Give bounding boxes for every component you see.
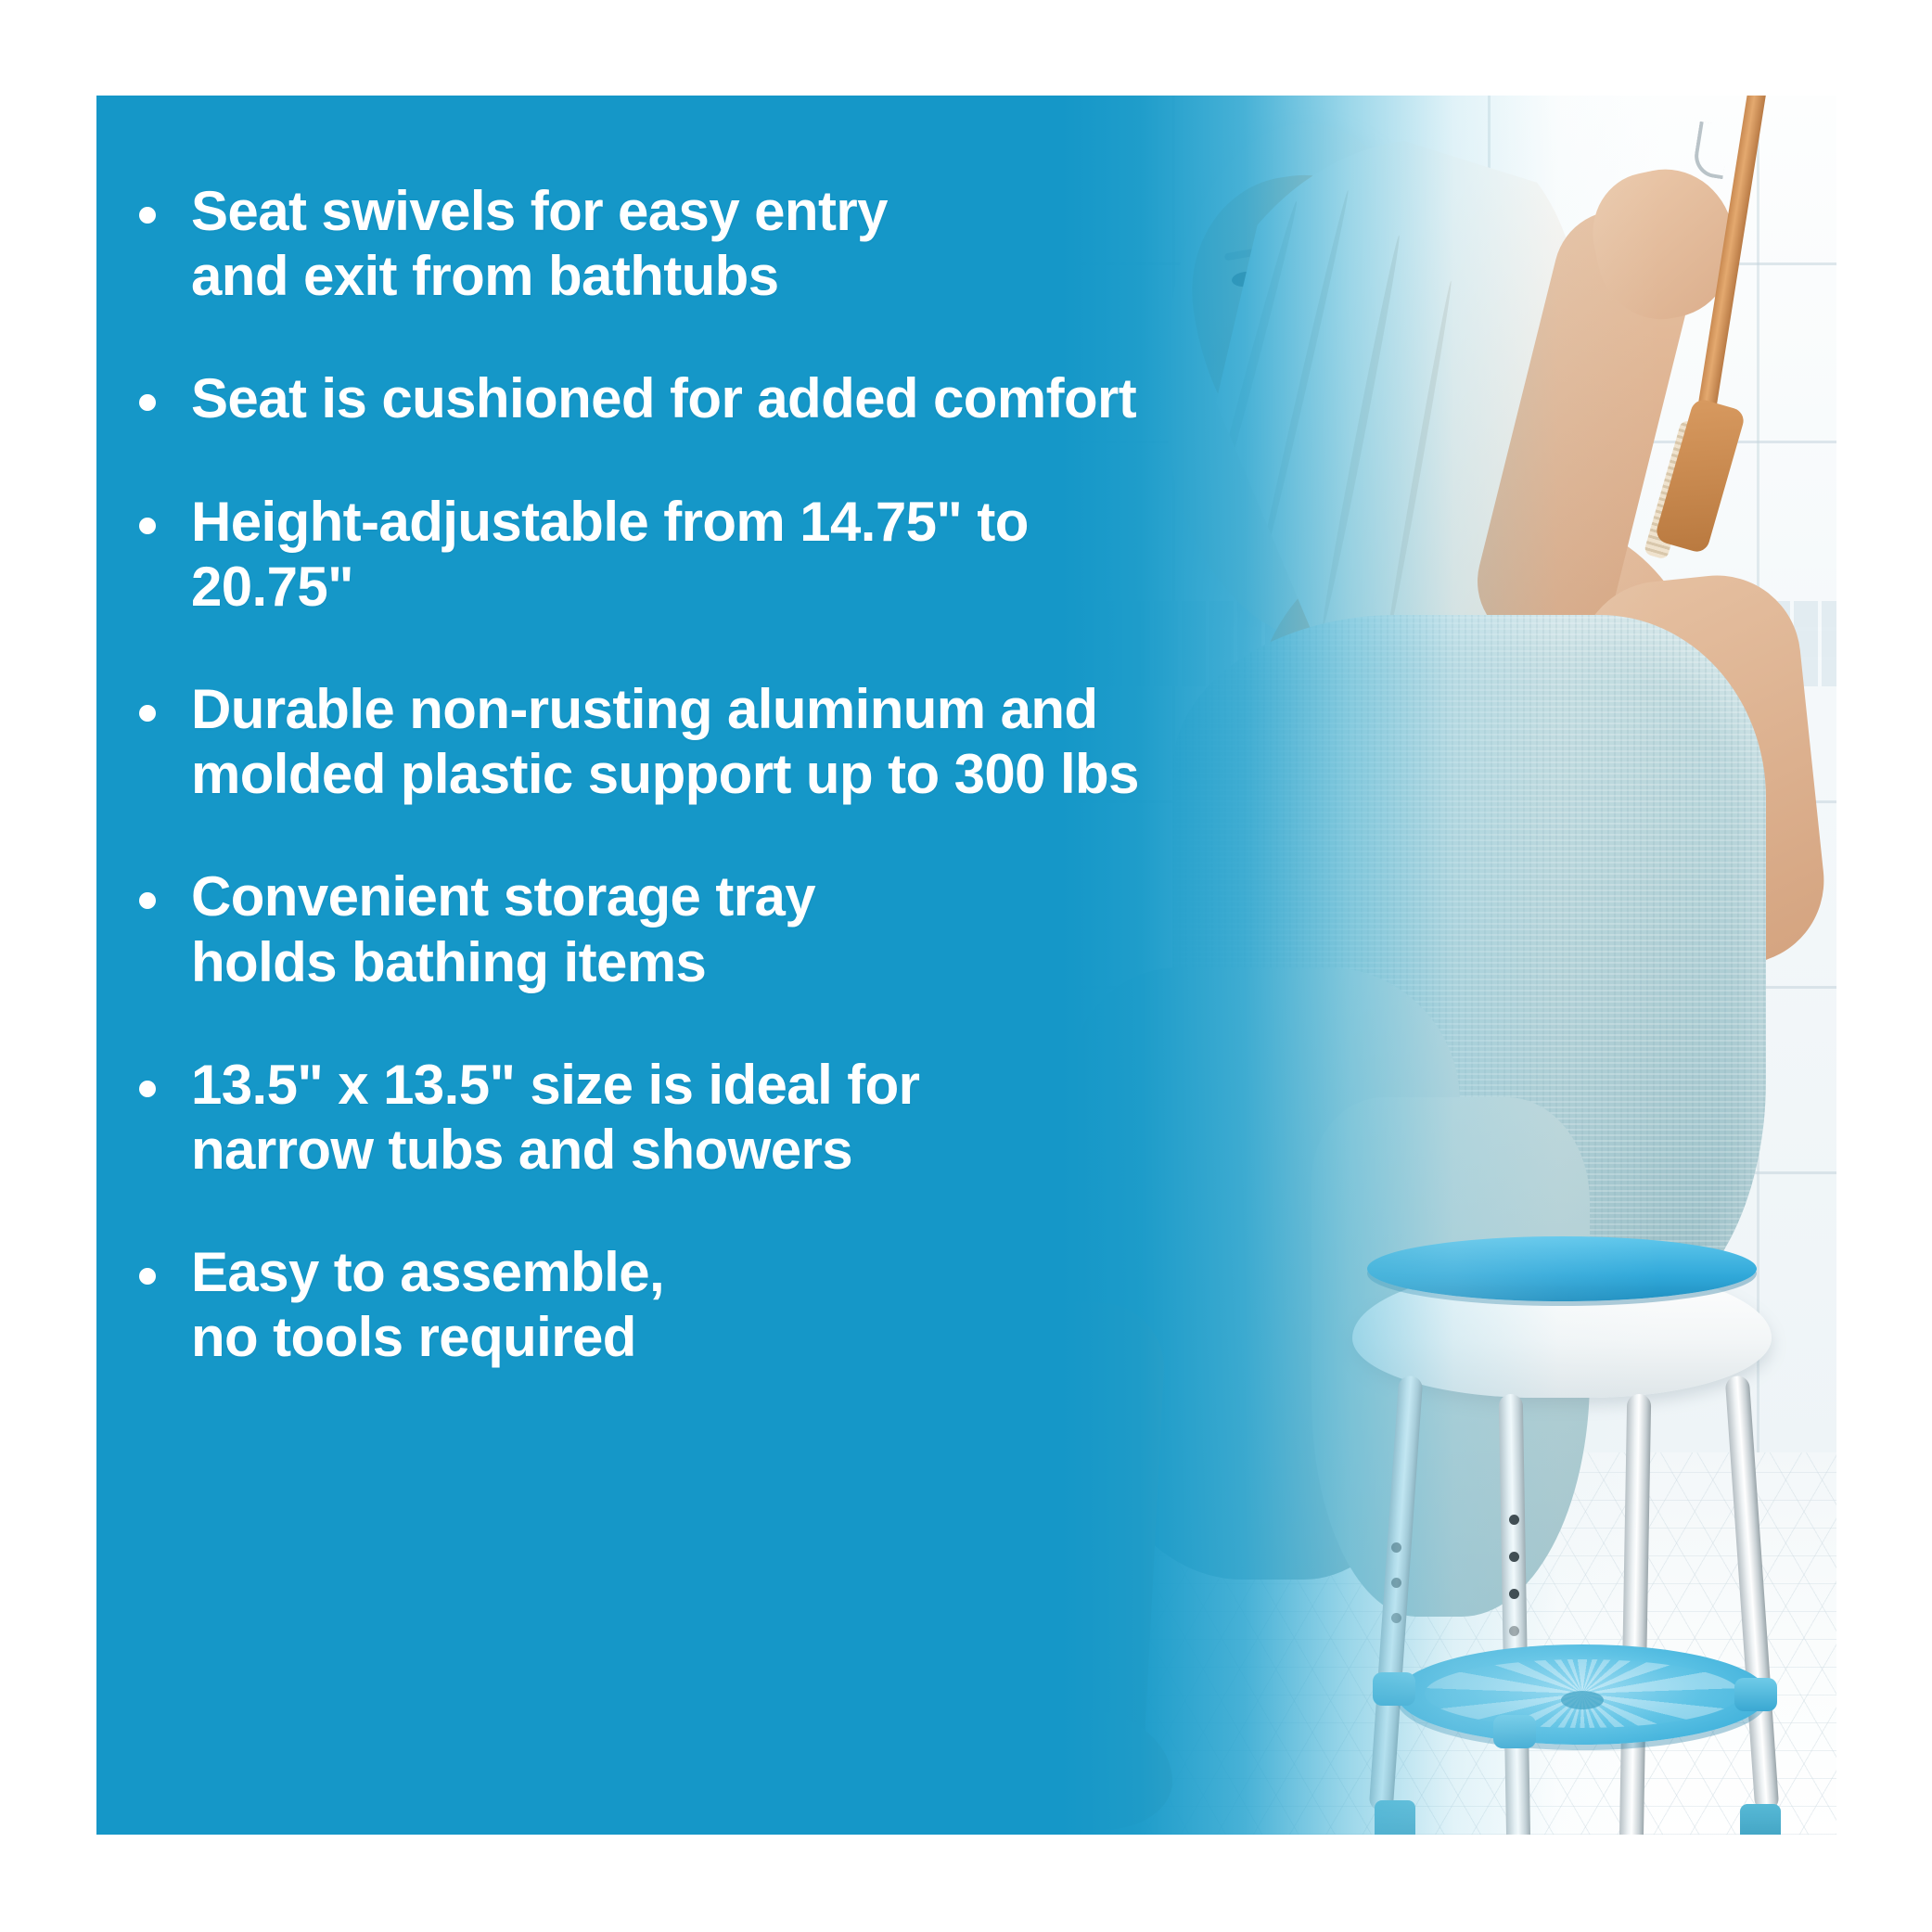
bullet-dot-icon bbox=[139, 1081, 156, 1097]
feature-bullet-list: Seat swivels for easy entry and exit fro… bbox=[139, 179, 1178, 1427]
feature-text: Easy to assemble, no tools required bbox=[191, 1240, 664, 1370]
bullet-dot-icon bbox=[139, 207, 156, 224]
feature-item-height-adjustable: Height-adjustable from 14.75" to 20.75" bbox=[139, 490, 1178, 620]
feature-text: Durable non-rusting aluminum and molded … bbox=[191, 677, 1139, 807]
feature-item-storage-tray: Convenient storage tray holds bathing it… bbox=[139, 864, 1178, 994]
feature-item-seat-size: 13.5" x 13.5" size is ideal for narrow t… bbox=[139, 1053, 1178, 1183]
feature-panel: Seat swivels for easy entry and exit fro… bbox=[96, 96, 1836, 1835]
feature-text: Seat is cushioned for added comfort bbox=[191, 366, 1136, 431]
bullet-dot-icon bbox=[139, 1268, 156, 1285]
feature-item-durable-materials: Durable non-rusting aluminum and molded … bbox=[139, 677, 1178, 807]
feature-text: 13.5" x 13.5" size is ideal for narrow t… bbox=[191, 1053, 919, 1183]
bullet-dot-icon bbox=[139, 518, 156, 534]
feature-text: Height-adjustable from 14.75" to 20.75" bbox=[191, 490, 1178, 620]
bullet-dot-icon bbox=[139, 892, 156, 909]
feature-text: Seat swivels for easy entry and exit fro… bbox=[191, 179, 888, 309]
bullet-dot-icon bbox=[139, 394, 156, 411]
bullet-dot-icon bbox=[139, 705, 156, 722]
feature-item-cushioned-seat: Seat is cushioned for added comfort bbox=[139, 366, 1178, 431]
feature-item-easy-assembly: Easy to assemble, no tools required bbox=[139, 1240, 1178, 1370]
feature-text: Convenient storage tray holds bathing it… bbox=[191, 864, 815, 994]
feature-item-swivel-seat: Seat swivels for easy entry and exit fro… bbox=[139, 179, 1178, 309]
infographic-canvas: Seat swivels for easy entry and exit fro… bbox=[0, 0, 1932, 1932]
